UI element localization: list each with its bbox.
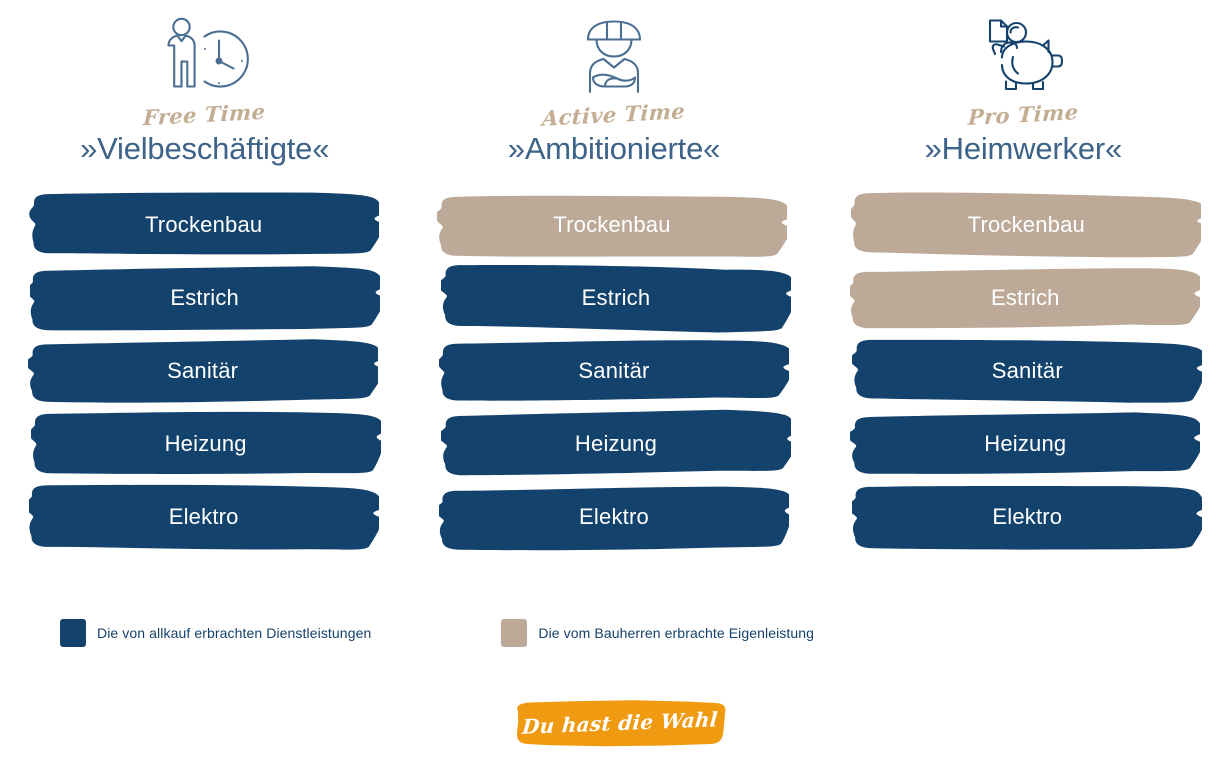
column-icon	[572, 12, 656, 98]
column-title: »Vielbeschäftigte«	[80, 132, 329, 166]
column-icon	[980, 12, 1066, 98]
column-icon	[157, 12, 253, 98]
brush-stroke-shape	[439, 481, 789, 553]
trade-bar[interactable]: Estrich	[850, 262, 1200, 334]
brush-stroke-shape	[29, 189, 379, 261]
trade-bar[interactable]: Sanitär	[28, 335, 378, 407]
column-script-label: Active Time	[542, 100, 686, 129]
brush-stroke-shape	[850, 262, 1200, 334]
column-title: »Ambitionierte«	[508, 132, 720, 166]
legend-item: Die vom Bauherren erbrachte Eigenleistun…	[501, 619, 814, 647]
trade-bar-list: TrockenbauEstrichSanitärHeizungElektro	[0, 189, 408, 554]
brush-stroke-shape	[437, 189, 787, 261]
brush-stroke-shape	[29, 481, 379, 553]
brush-stroke-shape	[441, 408, 791, 480]
trade-bar[interactable]: Heizung	[850, 408, 1200, 480]
column-header: Pro Time»Heimwerker«	[819, 0, 1228, 166]
legend: Die von allkauf erbrachten Dienstleistun…	[60, 619, 814, 647]
trade-bar[interactable]: Estrich	[441, 262, 791, 334]
trade-bar[interactable]: Elektro	[439, 481, 789, 553]
column-header: Active Time»Ambitionierte«	[409, 0, 818, 166]
legend-swatch	[501, 619, 527, 647]
comparison-board: Free Time»Vielbeschäftigte«TrockenbauEst…	[0, 0, 1228, 783]
person-clock-icon	[157, 16, 253, 94]
package-columns: Free Time»Vielbeschäftigte«TrockenbauEst…	[0, 0, 1228, 554]
trade-bar[interactable]: Trockenbau	[437, 189, 787, 261]
column-script-label: Pro Time	[968, 101, 1080, 128]
worker-helmet-icon	[572, 15, 656, 95]
column-script-label: Free Time	[143, 101, 266, 128]
brush-stroke-shape	[850, 408, 1200, 480]
cta-label: Du hast die Wahl	[510, 695, 730, 751]
legend-label: Die von allkauf erbrachten Dienstleistun…	[97, 626, 371, 640]
package-column: Active Time»Ambitionierte«TrockenbauEstr…	[409, 0, 818, 554]
trade-bar[interactable]: Heizung	[441, 408, 791, 480]
column-header: Free Time»Vielbeschäftigte«	[0, 0, 409, 166]
column-title: »Heimwerker«	[925, 132, 1122, 166]
piggy-bank-icon	[980, 15, 1066, 95]
brush-stroke-shape	[28, 335, 378, 407]
package-column: Pro Time»Heimwerker«TrockenbauEstrichSan…	[819, 0, 1228, 554]
trade-bar[interactable]: Elektro	[852, 481, 1202, 553]
brush-stroke-shape	[441, 262, 791, 334]
brush-stroke-shape	[31, 408, 381, 480]
trade-bar[interactable]: Sanitär	[852, 335, 1202, 407]
brush-stroke-shape	[851, 189, 1201, 261]
trade-bar[interactable]: Elektro	[29, 481, 379, 553]
brush-stroke-shape	[852, 335, 1202, 407]
trade-bar[interactable]: Heizung	[31, 408, 381, 480]
cta-badge[interactable]: Du hast die Wahl	[512, 699, 728, 747]
trade-bar[interactable]: Sanitär	[439, 335, 789, 407]
trade-bar[interactable]: Trockenbau	[29, 189, 379, 261]
trade-bar-list: TrockenbauEstrichSanitärHeizungElektro	[822, 189, 1228, 554]
legend-label: Die vom Bauherren erbrachte Eigenleistun…	[538, 626, 814, 640]
trade-bar[interactable]: Trockenbau	[851, 189, 1201, 261]
brush-stroke-shape	[439, 335, 789, 407]
trade-bar[interactable]: Estrich	[30, 262, 380, 334]
legend-swatch	[60, 619, 86, 647]
brush-stroke-shape	[852, 481, 1202, 553]
package-column: Free Time»Vielbeschäftigte«TrockenbauEst…	[0, 0, 409, 554]
trade-bar-list: TrockenbauEstrichSanitärHeizungElektro	[410, 189, 819, 554]
brush-stroke-shape	[30, 262, 380, 334]
legend-item: Die von allkauf erbrachten Dienstleistun…	[60, 619, 371, 647]
